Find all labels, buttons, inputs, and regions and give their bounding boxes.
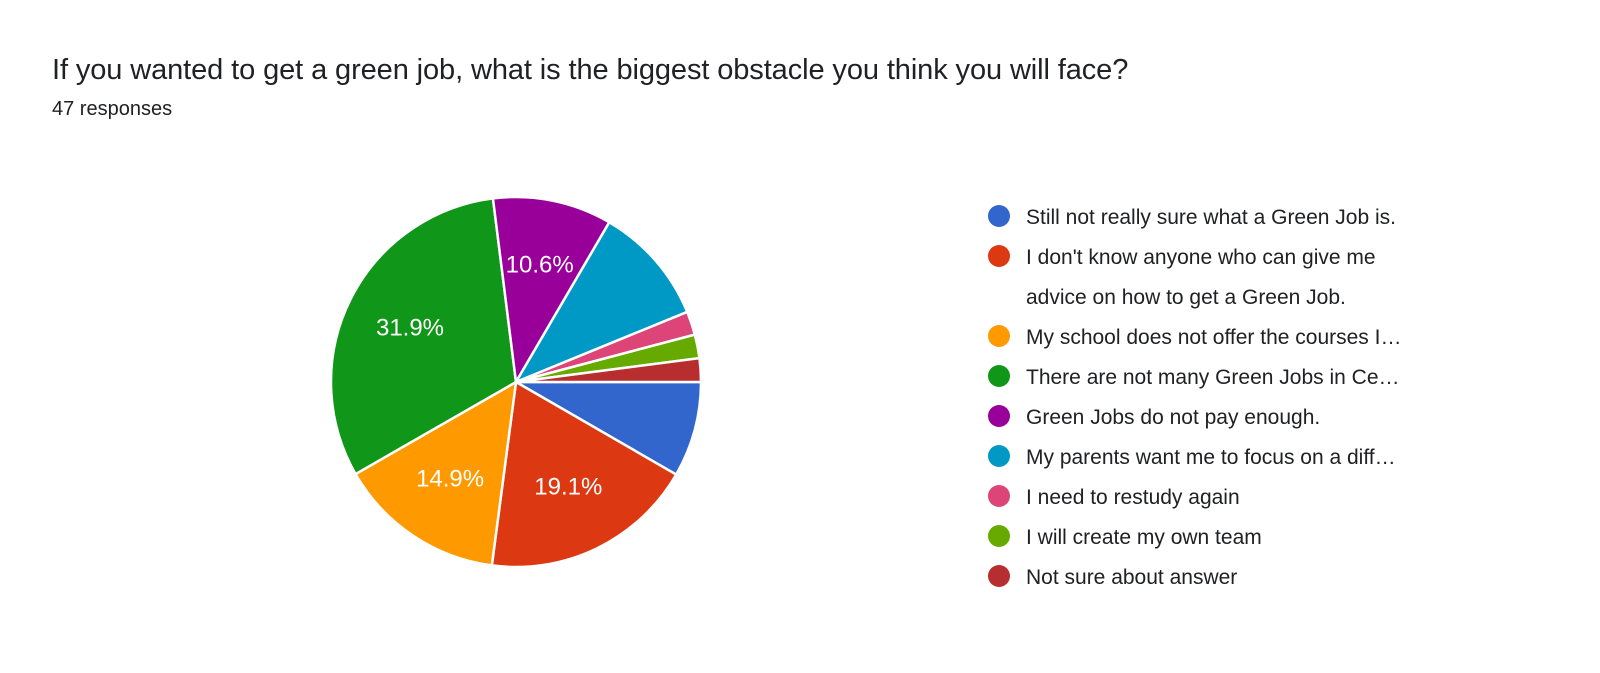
legend-item-label: My parents want me to focus on a diff… [1026, 438, 1396, 478]
legend-item[interactable]: I need to restudy again [988, 478, 1508, 518]
legend-color-swatch-icon [988, 525, 1010, 547]
legend-item[interactable]: I will create my own team [988, 518, 1508, 558]
legend-item[interactable]: My parents want me to focus on a diff… [988, 438, 1508, 478]
response-count: 47 responses [52, 97, 1502, 121]
pie-slice-label: 31.9% [376, 315, 444, 342]
chart-area: 19.1%14.9%31.9%10.6% Still not really su… [0, 160, 1600, 660]
legend-color-swatch-icon [988, 445, 1010, 467]
legend-item-label: My school does not offer the courses I… [1026, 318, 1401, 358]
pie-slice-label: 10.6% [506, 251, 574, 278]
pie-chart-svg[interactable]: 19.1%14.9%31.9%10.6% [316, 182, 716, 582]
legend-item[interactable]: Green Jobs do not pay enough. [988, 398, 1508, 438]
legend-color-swatch-icon [988, 365, 1010, 387]
legend-item[interactable]: My school does not offer the courses I… [988, 318, 1508, 358]
legend-color-swatch-icon [988, 245, 1010, 267]
legend-item-label: Green Jobs do not pay enough. [1026, 398, 1320, 438]
chart-header: If you wanted to get a green job, what i… [52, 52, 1502, 121]
legend-color-swatch-icon [988, 405, 1010, 427]
legend-item-label: I will create my own team [1026, 518, 1262, 558]
legend-item-label: There are not many Green Jobs in Ce… [1026, 358, 1400, 398]
legend-item[interactable]: Not sure about answer [988, 558, 1508, 598]
legend-item-label: I need to restudy again [1026, 478, 1240, 518]
legend-item-label: I don't know anyone who can give me advi… [1026, 238, 1376, 318]
legend-color-swatch-icon [988, 485, 1010, 507]
legend-item-label: Still not really sure what a Green Job i… [1026, 198, 1396, 238]
pie-chart: 19.1%14.9%31.9%10.6% [316, 182, 716, 582]
legend-item[interactable]: There are not many Green Jobs in Ce… [988, 358, 1508, 398]
legend-color-swatch-icon [988, 205, 1010, 227]
legend-color-swatch-icon [988, 565, 1010, 587]
legend-item[interactable]: Still not really sure what a Green Job i… [988, 198, 1508, 238]
chart-legend: Still not really sure what a Green Job i… [988, 198, 1508, 598]
legend-color-swatch-icon [988, 325, 1010, 347]
chart-page: If you wanted to get a green job, what i… [0, 0, 1600, 673]
pie-slice-label: 19.1% [534, 474, 602, 501]
legend-item-label: Not sure about answer [1026, 558, 1237, 598]
page-title: If you wanted to get a green job, what i… [52, 52, 1502, 88]
legend-item[interactable]: I don't know anyone who can give me advi… [988, 238, 1508, 318]
pie-slice-label: 14.9% [416, 466, 484, 493]
